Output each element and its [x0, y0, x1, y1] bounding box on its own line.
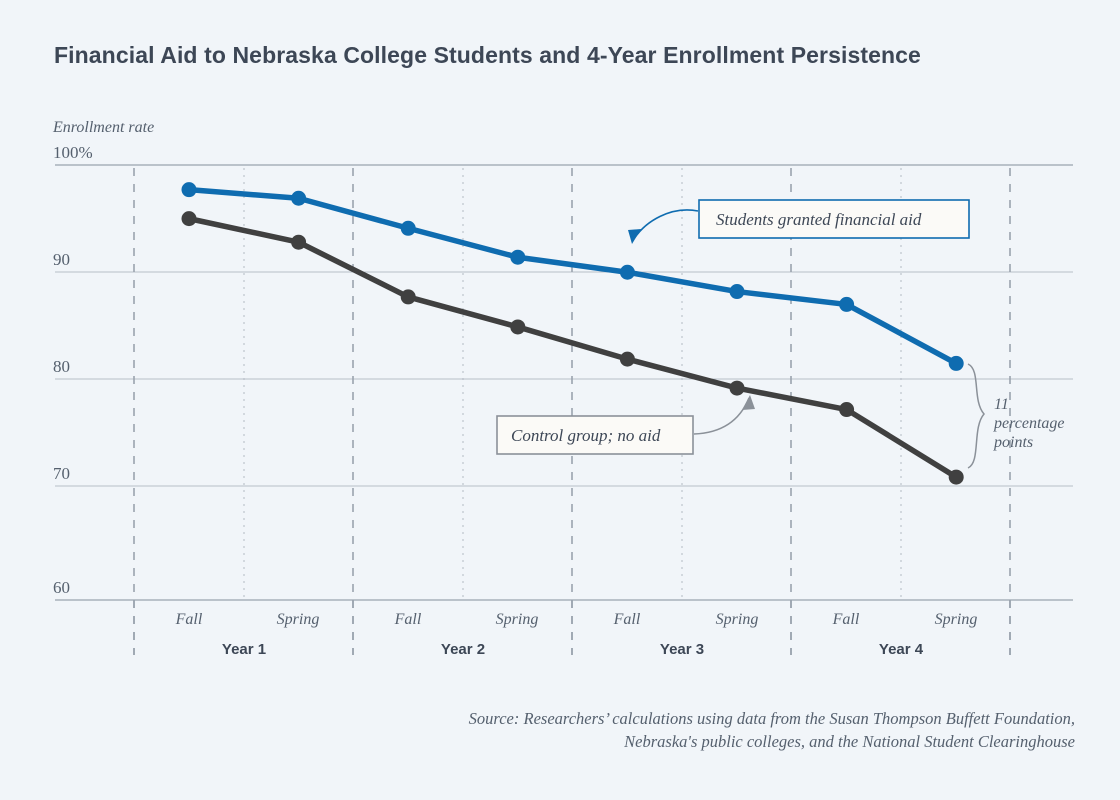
data-point-control-group [949, 470, 964, 485]
data-point-control-group [182, 211, 197, 226]
year-group-label: Year 4 [879, 641, 924, 658]
data-point-financial-aid [401, 221, 416, 236]
year-group-label: Year 2 [441, 641, 485, 658]
line-chart: 100% 90 80 70 60 [0, 0, 1120, 800]
x-tick-label: Fall [175, 611, 203, 628]
x-tick-label: Fall [613, 611, 641, 628]
y-tick-label: 90 [53, 250, 70, 269]
annotation-financial-aid: Students granted financial aid [628, 200, 969, 244]
annotation-control-group: Control group; no aid [497, 395, 755, 454]
data-point-financial-aid [730, 284, 745, 299]
gap-label-line3: points [993, 434, 1033, 451]
data-point-control-group [401, 289, 416, 304]
annotation-gap-brace: 11 percentage points [968, 364, 1064, 468]
gap-label-line1: 11 [994, 396, 1009, 413]
y-axis-ticks: 100% 90 80 70 60 [53, 143, 93, 597]
data-point-control-group [510, 319, 525, 334]
year-separators [134, 168, 1010, 655]
y-tick-label: 100% [53, 143, 93, 162]
year-group-label: Year 3 [660, 641, 704, 658]
data-point-control-group [839, 402, 854, 417]
x-axis-tick-labels: Fall Spring Fall Spring Fall Spring Fall… [175, 611, 978, 628]
x-tick-label: Fall [832, 611, 860, 628]
year-group-label: Year 1 [222, 641, 266, 658]
y-tick-label: 60 [53, 578, 70, 597]
data-point-control-group [730, 381, 745, 396]
x-tick-label: Fall [394, 611, 422, 628]
x-tick-label: Spring [496, 611, 539, 628]
x-tick-label: Spring [716, 611, 759, 628]
y-tick-label: 80 [53, 357, 70, 376]
gap-label-line2: percentage [993, 415, 1064, 432]
data-point-financial-aid [510, 250, 525, 265]
annotation-label-control-group: Control group; no aid [511, 426, 661, 445]
data-point-financial-aid [291, 191, 306, 206]
data-point-financial-aid [620, 265, 635, 280]
data-point-financial-aid [182, 182, 197, 197]
source-note: Source: Researchers’ calculations using … [430, 707, 1075, 754]
data-point-financial-aid [839, 297, 854, 312]
data-point-control-group [620, 352, 635, 367]
data-point-control-group [291, 235, 306, 250]
x-tick-label: Spring [935, 611, 978, 628]
data-point-financial-aid [949, 356, 964, 371]
x-tick-label: Spring [277, 611, 320, 628]
annotation-label-financial-aid: Students granted financial aid [716, 210, 922, 229]
x-axis-group-labels: Year 1 Year 2 Year 3 Year 4 [222, 641, 924, 658]
chart-page: Financial Aid to Nebraska College Studen… [0, 0, 1120, 800]
y-tick-label: 70 [53, 464, 70, 483]
